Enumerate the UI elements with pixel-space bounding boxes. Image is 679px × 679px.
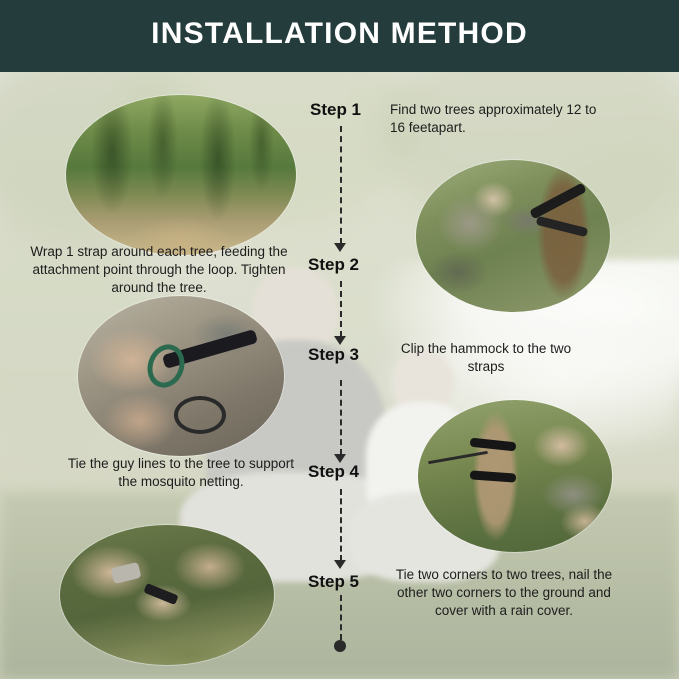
step-4-caption: Tie the guy lines to the tree to support… <box>62 455 300 491</box>
step-1-photo <box>66 95 296 255</box>
step-2-caption: Wrap 1 strap around each tree, feeding t… <box>20 243 298 297</box>
step-1-caption: Find two trees approximately 12 to 16 fe… <box>390 101 602 137</box>
installation-method-page: INSTALLATION METHOD Step 1 Find two tree… <box>0 0 679 679</box>
arrowhead-step5 <box>334 560 346 569</box>
page-header: INSTALLATION METHOD <box>0 0 679 72</box>
step-3-label: Step 3 <box>308 345 359 365</box>
step-3-caption: Clip the hammock to the two straps <box>383 340 589 376</box>
arrow-step3-to-step4 <box>340 380 342 455</box>
arrow-step1-to-step2 <box>340 126 342 244</box>
rope-loop-shape <box>174 396 226 434</box>
arrowhead-step3 <box>334 336 346 345</box>
end-dot <box>334 640 346 652</box>
step-2-label: Step 2 <box>308 255 359 275</box>
arrow-step4-to-step5 <box>340 489 342 561</box>
step-1-label: Step 1 <box>310 100 361 120</box>
arrow-step2-to-step3 <box>340 281 342 337</box>
arrow-step5-end <box>340 595 342 640</box>
step-5-photo <box>60 525 274 665</box>
step-3-photo <box>78 296 284 456</box>
step-4-photo <box>418 400 612 552</box>
step-5-label: Step 5 <box>308 572 359 592</box>
step-4-label: Step 4 <box>308 462 359 482</box>
page-title: INSTALLATION METHOD <box>0 17 679 51</box>
arrowhead-step2 <box>334 243 346 252</box>
step-5-caption: Tie two corners to two trees, nail the o… <box>380 566 628 620</box>
step-2-photo <box>416 160 610 312</box>
forest-trail-detail <box>66 95 296 255</box>
